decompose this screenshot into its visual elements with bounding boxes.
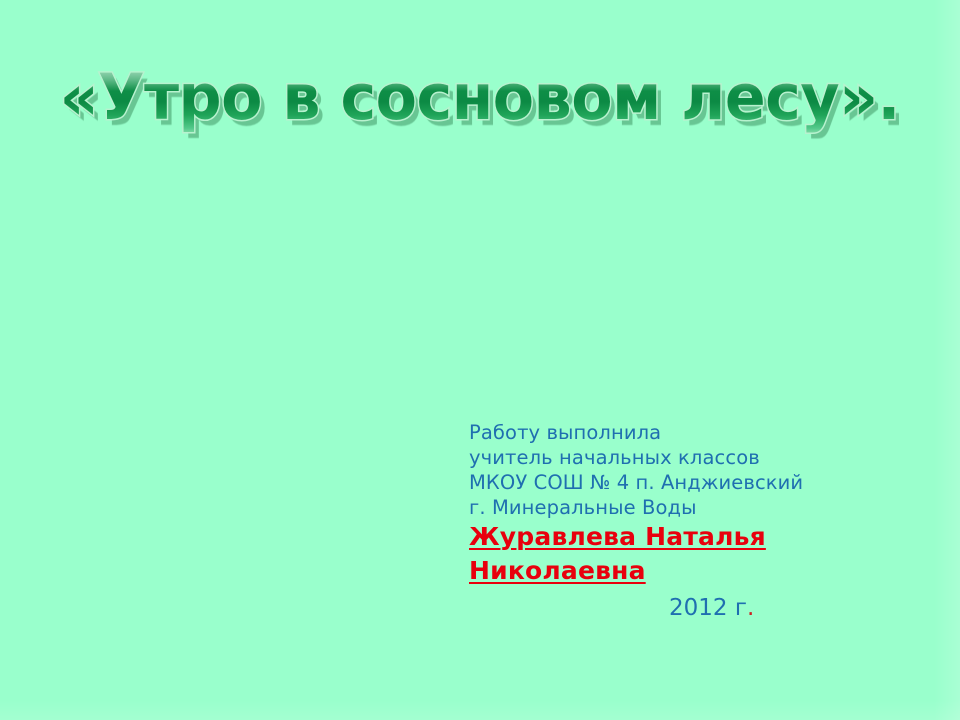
presentation-slide: «Утро в сосновом лесу». «Утро в сосновом… — [0, 0, 960, 720]
attribution-line-4: г. Минеральные Воды — [469, 495, 939, 520]
title-text: «Утро в сосновом лесу». — [60, 61, 900, 134]
attribution-line-2: учитель начальных классов — [469, 445, 939, 470]
attribution-line-3: МКОУ СОШ № 4 п. Анджиевский — [469, 470, 939, 495]
author-name-line-1: Журавлева Наталья — [469, 520, 939, 554]
year-line: 2012 г. — [469, 592, 939, 624]
year-text: 2012 г — [669, 595, 747, 621]
slide-body-text-block: Работу выполнила учитель начальных класс… — [469, 420, 939, 624]
author-name-line-2: Николаевна — [469, 554, 939, 588]
attribution-line-1: Работу выполнила — [469, 420, 939, 445]
slide-title-wordart: «Утро в сосновом лесу». «Утро в сосновом… — [60, 66, 900, 129]
slide-title-area: «Утро в сосновом лесу». «Утро в сосновом… — [0, 66, 960, 176]
year-trailing-dot: . — [747, 595, 754, 621]
